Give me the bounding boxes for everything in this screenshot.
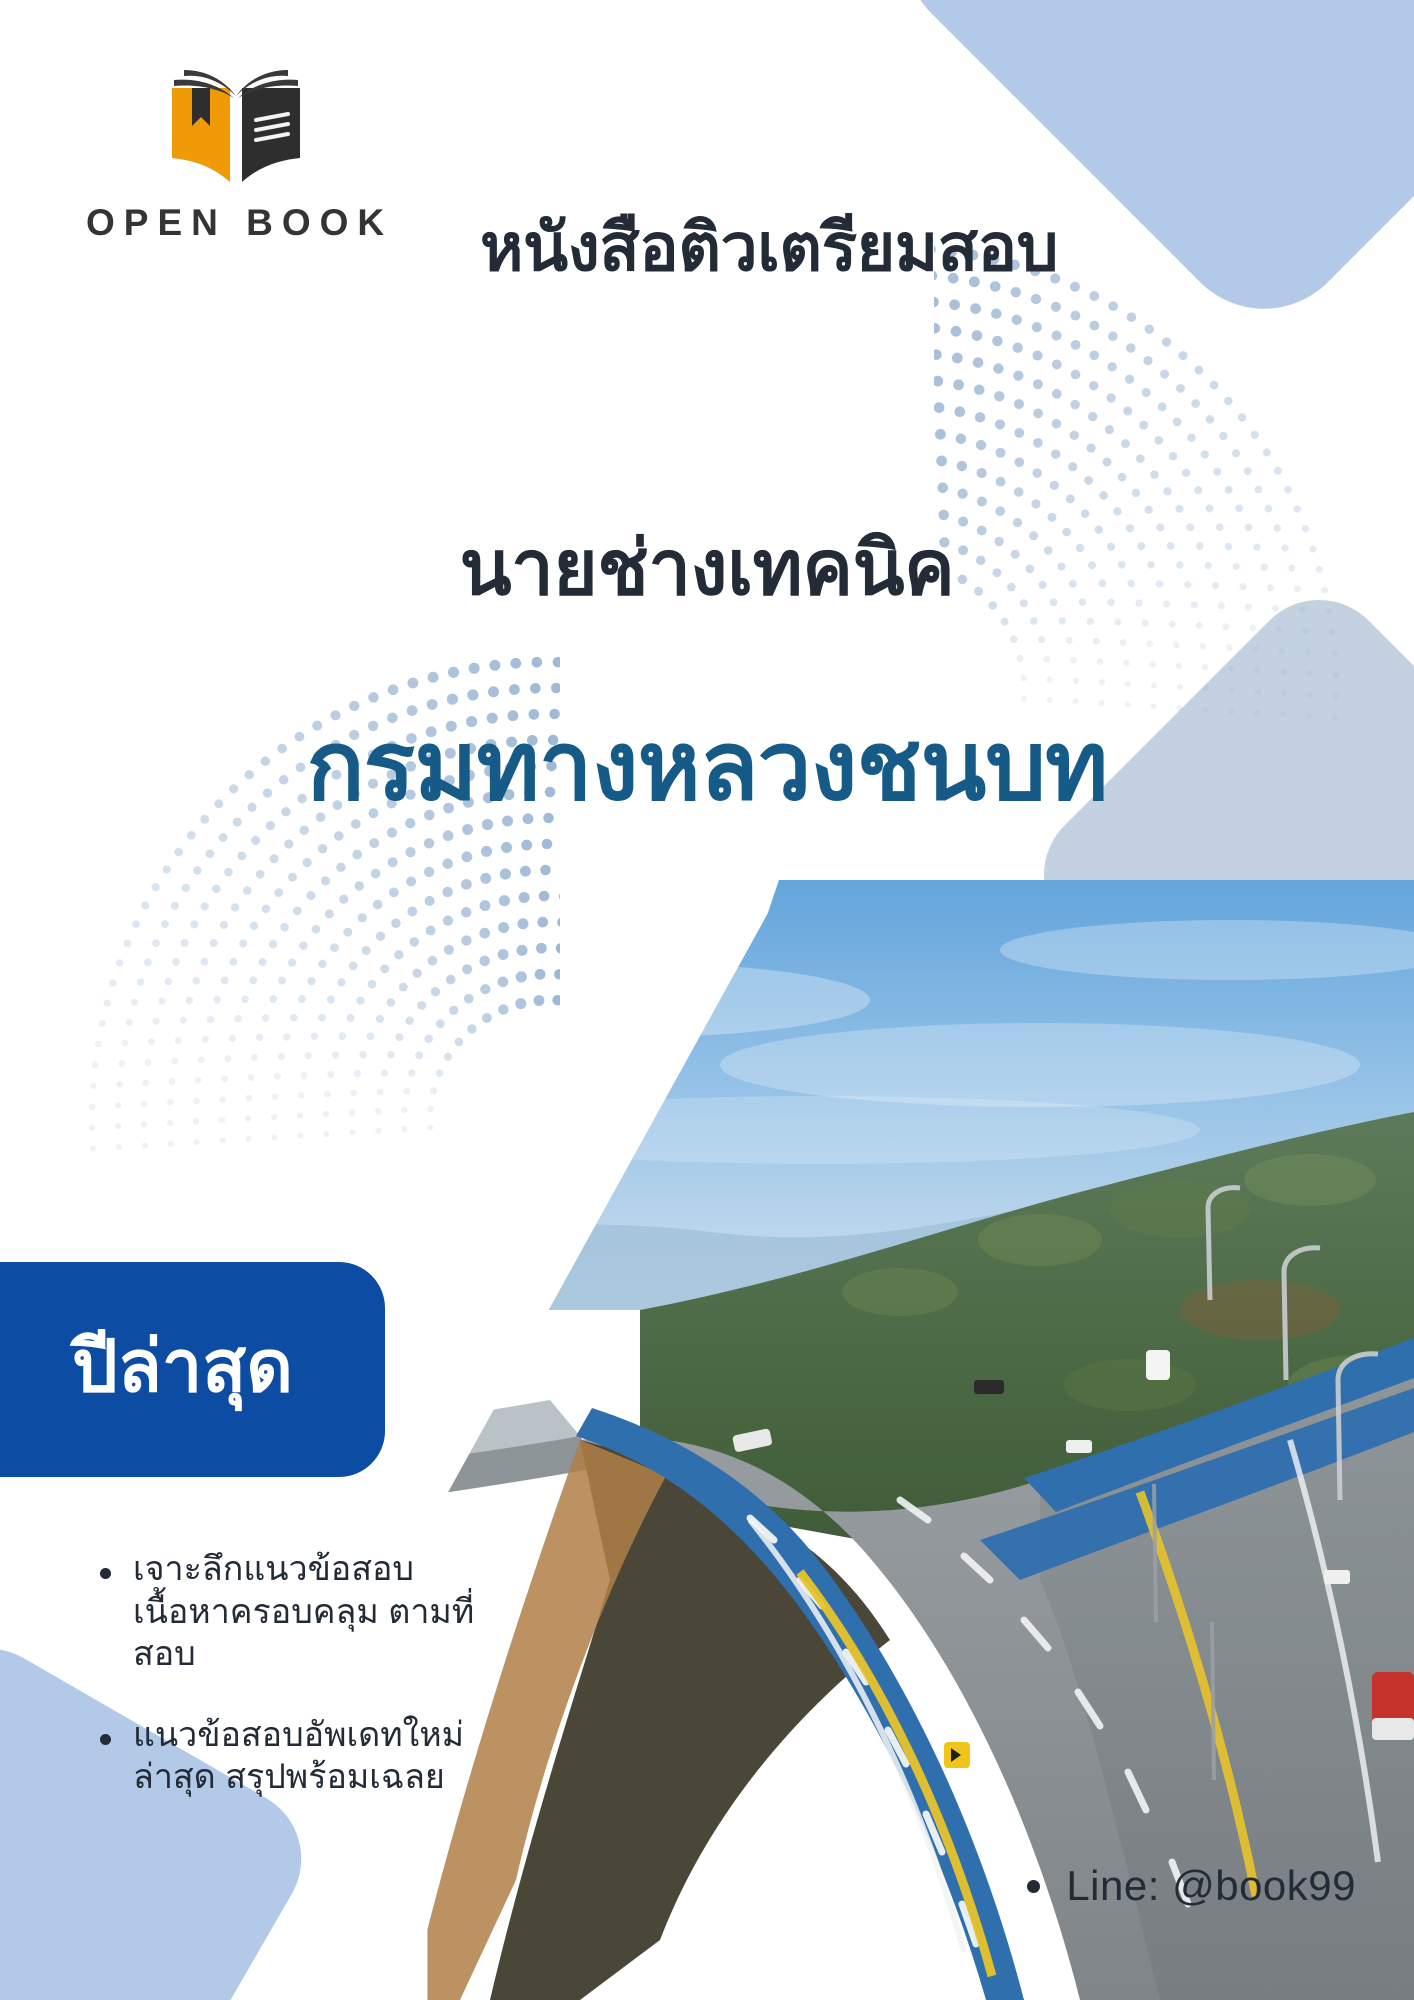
brand-logo: OPEN BOOK	[86, 62, 386, 244]
feature-text: เจาะลึกแนวข้อสอบ เนื้อหาครอบคลุม ตามที่ส…	[133, 1548, 520, 1676]
position-title: นายช่างเทคนิค	[0, 508, 1414, 628]
contact-line[interactable]: Line: @book99	[1027, 1862, 1356, 1910]
organization-title: กรมทางหลวงชนบท	[0, 690, 1414, 842]
kicker-heading: หนังสือติวเตรียมสอบ	[480, 195, 1058, 300]
contact-label: Line: @book99	[1066, 1862, 1356, 1910]
book-cover-poster: OPEN BOOK หนังสือติวเตรียมสอบ นายช่างเทค…	[0, 0, 1414, 2000]
feature-text: แนวข้อสอบอัพเดทใหม่ล่าสุด สรุปพร้อมเฉลย	[133, 1714, 520, 1799]
list-item: แนวข้อสอบอัพเดทใหม่ล่าสุด สรุปพร้อมเฉลย	[100, 1714, 520, 1799]
feature-list: เจาะลึกแนวข้อสอบ เนื้อหาครอบคลุม ตามที่ส…	[100, 1548, 520, 1837]
latest-year-badge: ปีล่าสุด	[0, 1262, 385, 1477]
list-item: เจาะลึกแนวข้อสอบ เนื้อหาครอบคลุม ตามที่ส…	[100, 1548, 520, 1676]
latest-year-badge-label: ปีล่าสุด	[32, 1331, 293, 1409]
open-book-icon	[156, 62, 316, 192]
bullet-dot-icon	[100, 1734, 111, 1745]
bullet-dot-icon	[1027, 1880, 1040, 1893]
bullet-dot-icon	[100, 1568, 111, 1579]
brand-wordmark: OPEN BOOK	[86, 202, 386, 244]
